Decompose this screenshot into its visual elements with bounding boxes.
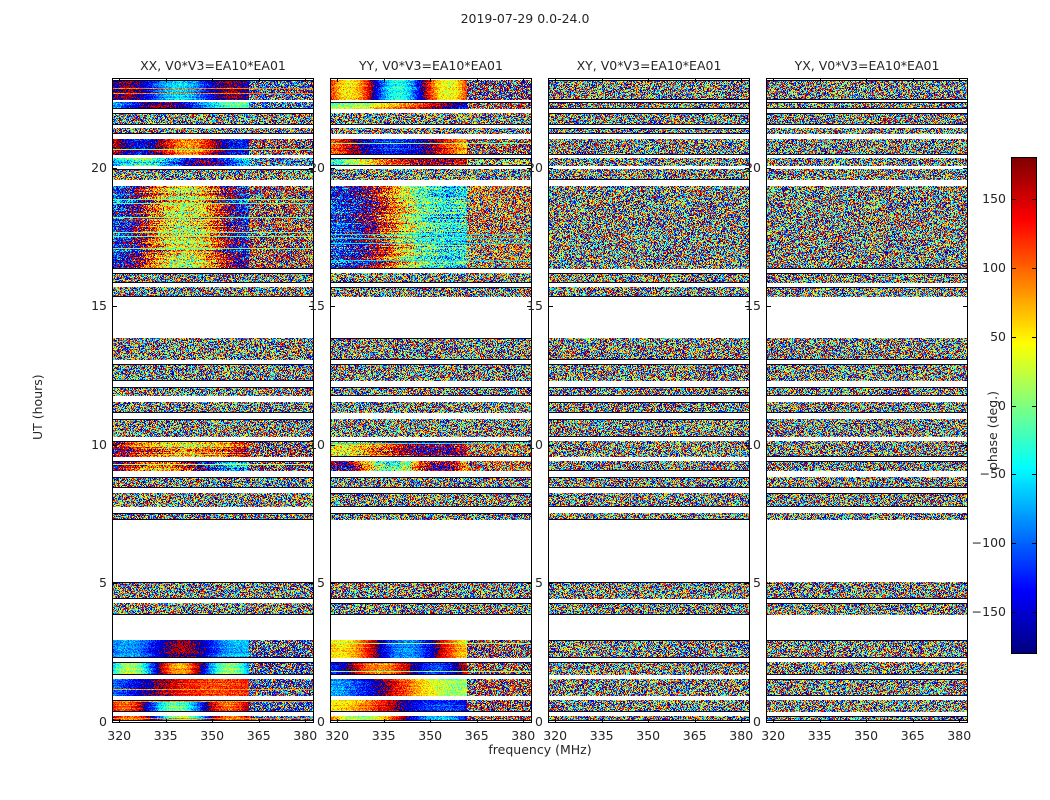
x-tick-label: 365 bbox=[670, 728, 720, 743]
x-axis-label: frequency (MHz) bbox=[340, 742, 740, 757]
colorbar-tick-mark-right bbox=[1032, 543, 1036, 544]
y-tick-label: 20 bbox=[57, 160, 107, 175]
y-tick-mark bbox=[767, 445, 771, 446]
x-tick-mark bbox=[477, 719, 478, 723]
heatmap-panel-yx[interactable] bbox=[766, 78, 968, 723]
x-tick-mark-top bbox=[913, 78, 914, 82]
y-tick-label: 15 bbox=[493, 298, 543, 313]
x-tick-label: 350 bbox=[623, 728, 673, 743]
colorbar-tick-label: 150 bbox=[956, 191, 1006, 206]
y-tick-mark-right bbox=[963, 445, 967, 446]
x-tick-mark bbox=[773, 719, 774, 723]
y-tick-label: 20 bbox=[711, 160, 761, 175]
y-tick-mark-right bbox=[963, 583, 967, 584]
y-tick-mark bbox=[331, 583, 335, 584]
y-tick-label: 15 bbox=[57, 298, 107, 313]
y-tick-mark-right bbox=[963, 722, 967, 723]
y-tick-mark bbox=[113, 445, 117, 446]
colorbar-tick-mark-right bbox=[1032, 337, 1036, 338]
y-tick-mark bbox=[549, 306, 553, 307]
heatmap-panel-xx[interactable] bbox=[112, 78, 314, 723]
x-tick-mark bbox=[913, 719, 914, 723]
colorbar-tick-label: −150 bbox=[956, 604, 1006, 619]
y-tick-label: 5 bbox=[493, 575, 543, 590]
y-tick-mark bbox=[331, 722, 335, 723]
colorbar-tick-mark bbox=[1012, 199, 1016, 200]
x-tick-label: 365 bbox=[452, 728, 502, 743]
x-tick-mark-top bbox=[959, 78, 960, 82]
y-axis-label: UT (hours) bbox=[30, 374, 45, 440]
x-tick-mark-top bbox=[430, 78, 431, 82]
y-tick-label: 0 bbox=[275, 714, 325, 729]
y-tick-label: 10 bbox=[493, 437, 543, 452]
x-tick-label: 350 bbox=[841, 728, 891, 743]
x-tick-label: 320 bbox=[312, 728, 362, 743]
heatmap-panel-xy[interactable] bbox=[548, 78, 750, 723]
x-tick-label: 335 bbox=[141, 728, 191, 743]
x-tick-mark-top bbox=[866, 78, 867, 82]
x-tick-mark bbox=[695, 719, 696, 723]
heatmap-panel-yy[interactable] bbox=[330, 78, 532, 723]
colorbar-tick-mark-right bbox=[1032, 612, 1036, 613]
x-tick-label: 320 bbox=[748, 728, 798, 743]
x-tick-label: 350 bbox=[187, 728, 237, 743]
x-tick-mark-top bbox=[212, 78, 213, 82]
y-tick-mark-right bbox=[963, 306, 967, 307]
y-tick-label: 15 bbox=[711, 298, 761, 313]
x-tick-mark-top bbox=[555, 78, 556, 82]
x-tick-mark-top bbox=[523, 78, 524, 82]
colorbar-tick-label: 100 bbox=[956, 260, 1006, 275]
x-tick-label: 335 bbox=[577, 728, 627, 743]
x-tick-mark-top bbox=[166, 78, 167, 82]
x-tick-mark-top bbox=[602, 78, 603, 82]
x-tick-label: 350 bbox=[405, 728, 455, 743]
y-tick-mark bbox=[113, 583, 117, 584]
x-tick-label: 320 bbox=[530, 728, 580, 743]
y-tick-mark bbox=[113, 168, 117, 169]
x-tick-mark bbox=[959, 719, 960, 723]
x-tick-mark-top bbox=[648, 78, 649, 82]
x-tick-mark-top bbox=[477, 78, 478, 82]
y-tick-label: 10 bbox=[57, 437, 107, 452]
x-tick-label: 320 bbox=[94, 728, 144, 743]
colorbar-tick-mark bbox=[1012, 543, 1016, 544]
x-tick-mark-top bbox=[741, 78, 742, 82]
y-tick-mark bbox=[331, 445, 335, 446]
x-tick-label: 335 bbox=[795, 728, 845, 743]
y-tick-label: 5 bbox=[711, 575, 761, 590]
colorbar-tick-mark bbox=[1012, 406, 1016, 407]
panel-title-yx: YX, V0*V3=EA10*EA01 bbox=[716, 58, 1018, 74]
y-tick-mark bbox=[331, 306, 335, 307]
figure-title: 2019-07-29 0.0-24.0 bbox=[0, 11, 1050, 26]
x-tick-label: 365 bbox=[234, 728, 284, 743]
colorbar-tick-mark bbox=[1012, 474, 1016, 475]
y-tick-label: 0 bbox=[711, 714, 761, 729]
x-tick-mark bbox=[119, 719, 120, 723]
y-tick-label: 10 bbox=[711, 437, 761, 452]
x-tick-mark-top bbox=[337, 78, 338, 82]
x-tick-mark-top bbox=[119, 78, 120, 82]
y-tick-mark-right bbox=[963, 168, 967, 169]
colorbar-tick-mark-right bbox=[1032, 406, 1036, 407]
y-tick-label: 10 bbox=[275, 437, 325, 452]
x-tick-mark bbox=[430, 719, 431, 723]
x-tick-mark bbox=[166, 719, 167, 723]
x-tick-mark bbox=[602, 719, 603, 723]
colorbar-tick-mark bbox=[1012, 612, 1016, 613]
x-tick-mark bbox=[820, 719, 821, 723]
x-tick-mark bbox=[337, 719, 338, 723]
colorbar-tick-label: −100 bbox=[956, 535, 1006, 550]
y-tick-mark bbox=[767, 168, 771, 169]
y-tick-label: 20 bbox=[493, 160, 543, 175]
x-tick-mark-top bbox=[695, 78, 696, 82]
y-tick-label: 0 bbox=[493, 714, 543, 729]
colorbar-tick-mark bbox=[1012, 337, 1016, 338]
colorbar-tick-mark-right bbox=[1032, 268, 1036, 269]
figure-canvas: 2019-07-29 0.0-24.0 XX, V0*V3=EA10*EA01 … bbox=[0, 0, 1050, 800]
y-tick-label: 0 bbox=[57, 714, 107, 729]
y-tick-mark bbox=[549, 445, 553, 446]
x-tick-mark bbox=[259, 719, 260, 723]
x-tick-mark-top bbox=[384, 78, 385, 82]
y-tick-mark bbox=[331, 168, 335, 169]
y-tick-mark bbox=[549, 168, 553, 169]
y-tick-mark bbox=[113, 722, 117, 723]
x-tick-mark bbox=[384, 719, 385, 723]
y-tick-mark bbox=[767, 306, 771, 307]
y-tick-label: 15 bbox=[275, 298, 325, 313]
y-tick-mark bbox=[549, 583, 553, 584]
x-tick-mark-top bbox=[820, 78, 821, 82]
y-tick-label: 20 bbox=[275, 160, 325, 175]
x-tick-mark-top bbox=[305, 78, 306, 82]
colorbar-tick-mark bbox=[1012, 268, 1016, 269]
y-tick-label: 5 bbox=[275, 575, 325, 590]
y-tick-mark bbox=[767, 722, 771, 723]
x-tick-mark-top bbox=[259, 78, 260, 82]
y-tick-mark bbox=[113, 306, 117, 307]
colorbar-tick-mark-right bbox=[1032, 474, 1036, 475]
colorbar-tick-label: 50 bbox=[956, 329, 1006, 344]
y-tick-mark bbox=[549, 722, 553, 723]
y-tick-mark bbox=[767, 583, 771, 584]
x-tick-mark bbox=[212, 719, 213, 723]
x-tick-label: 380 bbox=[934, 728, 984, 743]
y-tick-label: 5 bbox=[57, 575, 107, 590]
x-tick-mark bbox=[866, 719, 867, 723]
x-tick-label: 365 bbox=[888, 728, 938, 743]
x-tick-mark-top bbox=[773, 78, 774, 82]
x-tick-mark bbox=[555, 719, 556, 723]
colorbar-tick-mark-right bbox=[1032, 199, 1036, 200]
x-tick-label: 335 bbox=[359, 728, 409, 743]
x-tick-mark bbox=[648, 719, 649, 723]
colorbar-label: phase (deg.) bbox=[985, 391, 1000, 470]
